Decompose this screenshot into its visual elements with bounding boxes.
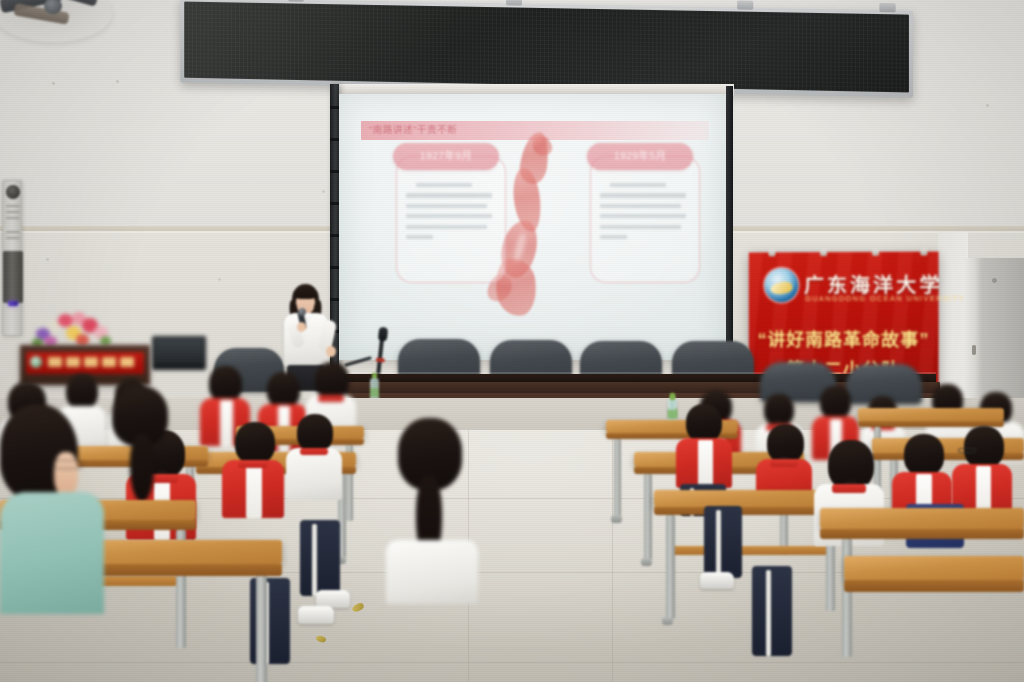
lecture-hall-photo: “南路讲述”干责不断 1927年9月 1929年5月 <box>0 0 1024 682</box>
led-display-board <box>180 0 913 98</box>
student-seated <box>222 422 286 532</box>
table-banner-emblem-icon <box>30 356 42 368</box>
wall-screw <box>46 258 49 261</box>
student-seated-foreground <box>386 418 482 604</box>
power-led-indicator <box>8 301 18 306</box>
slide-card-1929-date-pill: 1929年5月 <box>587 143 693 170</box>
university-crest-icon <box>765 268 799 302</box>
wall-control-panel[interactable] <box>2 180 22 336</box>
slide-card-1929-date: 1929年5月 <box>587 143 693 170</box>
wall-screw <box>986 104 989 107</box>
student-seated <box>286 414 344 514</box>
screen-right-edge <box>726 86 733 364</box>
projection-screen: “南路讲述”干责不断 1927年9月 1929年5月 <box>339 94 726 360</box>
slide-card-1927-date: 1927年9月 <box>393 143 499 170</box>
banner-theme-line-1: “讲好南路革命故事” <box>755 326 933 352</box>
wall-screw <box>52 82 55 85</box>
student-legs <box>740 566 810 682</box>
door-wall-spot <box>992 278 997 283</box>
banner-university-name-en: GUANGDONG OCEAN UNIVERSITY <box>805 294 965 303</box>
wall-screw <box>116 80 119 83</box>
student-seated-foreground <box>0 404 106 614</box>
student-seated <box>676 404 734 500</box>
presenter-monitor <box>152 336 206 370</box>
slide-card-1927-body <box>406 183 496 274</box>
student-legs <box>236 578 306 682</box>
red-table-banner <box>26 352 144 374</box>
door-handle[interactable] <box>972 345 976 355</box>
slide-card-1927: 1927年9月 <box>396 156 506 283</box>
wall-screw <box>218 278 221 281</box>
student-seated <box>100 386 192 506</box>
slide-card-1929: 1929年5月 <box>590 156 700 283</box>
slide-card-1927-date-pill: 1927年9月 <box>393 143 499 170</box>
ceiling-fan-icon <box>0 0 112 46</box>
slide-card-1929-body <box>600 183 690 274</box>
speaker-grille-icon <box>6 185 20 199</box>
wall-screw <box>322 190 325 193</box>
